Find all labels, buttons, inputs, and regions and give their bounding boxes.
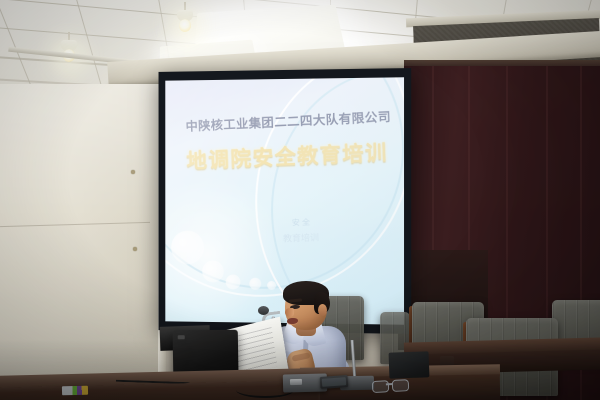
slide-bubble-decoration — [226, 275, 241, 290]
mobile-phone — [320, 375, 349, 389]
eyeglasses — [372, 379, 413, 393]
presenter-nose — [285, 308, 294, 317]
table-sticker-logo — [62, 386, 88, 396]
photo-scene: 中陕核工业集团二二四大队有限公司 地调院安全教育培训 安 全 教育培训 — [0, 0, 600, 400]
microphone-button — [290, 379, 302, 385]
left-wall — [0, 84, 166, 400]
wall-fixture-dot — [133, 247, 137, 251]
wall-seam — [0, 222, 150, 227]
slide-bubble-decoration — [171, 231, 204, 265]
slide-bubble-decoration — [202, 260, 224, 282]
wall-fixture-dot — [131, 170, 135, 174]
microphone-head-icon — [258, 306, 269, 315]
presenter-ear — [318, 304, 327, 316]
laptop-logo-icon — [178, 335, 185, 339]
desk-nameplate — [389, 351, 430, 378]
